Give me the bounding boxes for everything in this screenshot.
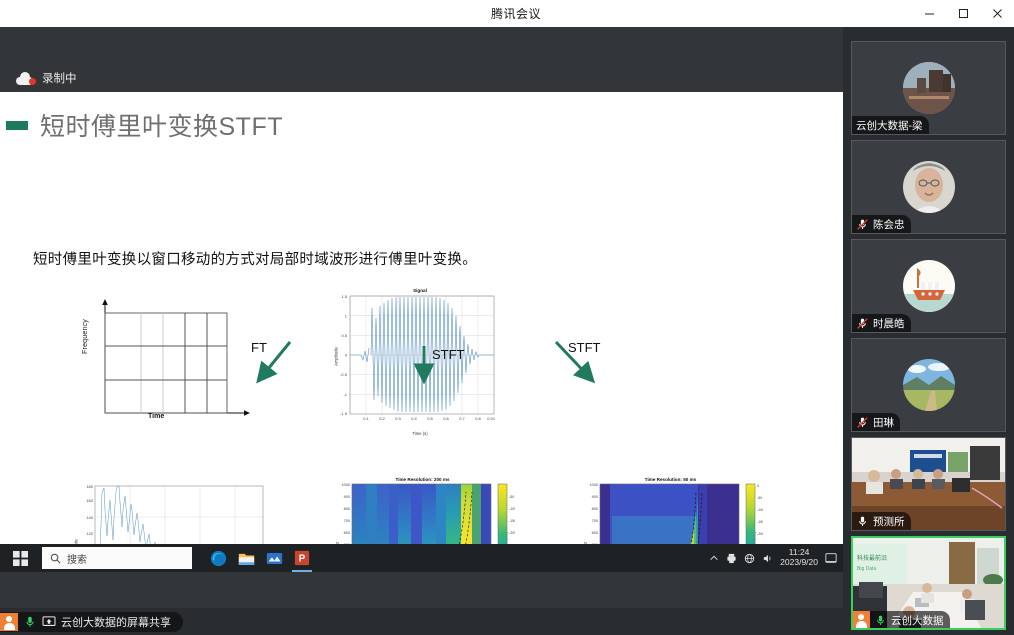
svg-text:0: 0 — [757, 484, 759, 488]
participant-name: 云创大数据 — [891, 613, 944, 628]
svg-text:0.3: 0.3 — [395, 416, 401, 421]
participant-name: 云创大数据-梁 — [856, 118, 923, 133]
svg-text:120: 120 — [86, 531, 93, 536]
avatar-badge-icon — [0, 613, 18, 631]
svg-text:0: 0 — [345, 353, 348, 358]
cloud-recording-icon — [16, 72, 36, 85]
minimize-button[interactable] — [912, 0, 946, 27]
svg-text:-50: -50 — [757, 496, 762, 500]
avatar — [903, 260, 955, 312]
participant-tile[interactable]: 云创大数据-梁 — [851, 41, 1006, 135]
ft-plot-svg: 02040 6080100 120140160 180200 180160140… — [68, 480, 273, 544]
slide-title-row: 短时傅里叶变换STFT — [0, 104, 843, 146]
slide-subtitle: 短时傅里叶变换以窗口移动的方式对局部时域波形进行傅里叶变换。 — [33, 248, 477, 269]
shared-slide: 短时傅里叶变换STFT 短时傅里叶变换以窗口移动的方式对局部时域波形进行傅里叶变… — [0, 92, 843, 544]
svg-text:-1.5: -1.5 — [340, 411, 348, 416]
taskbar-app-blue[interactable] — [260, 544, 288, 572]
slide-title: 短时傅里叶变换STFT — [40, 107, 283, 143]
time-frequency-grid-svg — [86, 295, 256, 430]
microphone-active-icon — [874, 614, 887, 627]
windows-start-button[interactable] — [0, 544, 40, 572]
svg-text:-150: -150 — [757, 520, 763, 524]
file-explorer-icon — [238, 551, 255, 566]
system-tray[interactable]: 11:24 2023/9/20 — [709, 548, 843, 568]
participant-name-bar: 田琳 — [852, 413, 900, 431]
avatar — [903, 161, 955, 213]
printer-icon[interactable] — [726, 553, 737, 564]
microphone-icon — [856, 515, 869, 528]
chevron-up-icon[interactable] — [709, 553, 719, 563]
svg-text:600: 600 — [592, 531, 598, 535]
microphone-muted-icon — [856, 218, 869, 231]
screen-share-bar: 云创大数据的屏幕共享 — [0, 608, 843, 635]
maximize-button[interactable] — [946, 0, 980, 27]
spectrogram-200ms-figure: Time Resolution: 200 ms Hz Time (s) Powe… — [330, 476, 515, 544]
participant-name: 陈会忠 — [873, 217, 905, 232]
svg-text:-100: -100 — [509, 507, 515, 511]
ft-spectrum-figure: Amplitude Frequency (Hz) 02040 6080100 1… — [68, 480, 273, 544]
svg-text:600: 600 — [344, 531, 350, 535]
svg-text:-150: -150 — [509, 519, 515, 523]
participant-name: 预测所 — [873, 514, 905, 529]
search-icon — [50, 553, 61, 564]
window-controls — [912, 0, 1014, 27]
participant-tile[interactable]: 预测所 — [851, 437, 1006, 531]
taskbar-clock[interactable]: 11:24 2023/9/20 — [780, 548, 818, 568]
participant-name-bar: 预测所 — [852, 512, 911, 530]
edge-icon — [210, 550, 227, 567]
taskbar-search-box[interactable]: 搜索 — [42, 547, 192, 569]
signal-figure: Signal Amplitude Time (s) — [325, 288, 515, 436]
notification-icon[interactable] — [825, 552, 837, 564]
spectrogram-200ms-svg: -50-100-150 -200-250-300 -350-400-450 10… — [330, 476, 515, 544]
minimize-icon — [924, 8, 935, 19]
time-frequency-grid-figure: Frequency Time — [86, 295, 256, 430]
window-title-bar: 腾讯会议 — [0, 0, 1014, 27]
participant-name-bar: 云创大数据-梁 — [852, 116, 929, 134]
svg-text:1: 1 — [493, 416, 496, 421]
microphone-muted-icon — [856, 317, 869, 330]
participant-name: 时晨皓 — [873, 316, 905, 331]
avatar — [903, 62, 955, 114]
clock-date: 2023/9/20 — [780, 558, 818, 568]
svg-text:0.1: 0.1 — [363, 416, 369, 421]
participant-name-bar: 时晨皓 — [852, 314, 911, 332]
svg-text:160: 160 — [86, 498, 93, 503]
participant-tile[interactable]: 田琳 — [851, 338, 1006, 432]
svg-text:-100: -100 — [757, 508, 763, 512]
microphone-icon[interactable] — [23, 615, 37, 629]
spectrogram-50ms-svg: 0-50-100 -150-200-250 -300-350-400 -450 … — [578, 476, 763, 544]
svg-text:1.5: 1.5 — [341, 294, 347, 299]
svg-text:-50: -50 — [509, 495, 514, 499]
svg-text:0.4: 0.4 — [411, 416, 417, 421]
svg-text:700: 700 — [592, 519, 598, 523]
microphone-muted-icon — [856, 416, 869, 429]
grid-ylabel: Frequency — [82, 319, 89, 354]
taskbar-app-powerpoint[interactable]: P — [288, 544, 316, 572]
title-accent-left — [6, 121, 28, 130]
svg-text:P: P — [299, 554, 306, 565]
svg-text:180: 180 — [86, 484, 93, 489]
maximize-icon — [958, 8, 969, 19]
svg-text:-1: -1 — [343, 392, 347, 397]
recording-label: 录制中 — [42, 70, 77, 86]
svg-text:140: 140 — [86, 515, 93, 520]
svg-text:1: 1 — [345, 314, 348, 319]
screen-share-label: 云创大数据的屏幕共享 — [61, 614, 171, 630]
svg-text:0.5: 0.5 — [427, 416, 433, 421]
powerpoint-icon: P — [294, 550, 310, 566]
landscape-photo-avatar-icon — [903, 359, 955, 411]
close-icon — [992, 8, 1003, 19]
signal-plot-svg: 0.10.20.3 0.40.50.6 0.70.80.9 1 1.510.5 … — [325, 288, 515, 436]
participant-name-bar: 云创大数据 — [852, 611, 950, 629]
svg-text:0.5: 0.5 — [341, 333, 347, 338]
svg-text:-0.5: -0.5 — [340, 372, 348, 377]
volume-icon[interactable] — [762, 553, 773, 564]
arrow-label-stft-1: STFT — [432, 347, 465, 362]
svg-text:0.7: 0.7 — [459, 416, 465, 421]
participant-rail[interactable]: 云创大数据-梁 — [843, 27, 1014, 635]
tencent-meeting-window: 腾讯会议 录制中 — [0, 0, 1014, 635]
spectrogram-50ms-figure: Time Resolution: 50 ms Hz Time (s) Power… — [578, 476, 763, 544]
svg-text:800: 800 — [344, 507, 350, 511]
svg-text:1000: 1000 — [590, 483, 598, 487]
svg-text:0.6: 0.6 — [443, 416, 449, 421]
grid-xlabel: Time — [148, 413, 164, 420]
recording-indicator: 录制中 — [16, 70, 77, 86]
boat-illustration-avatar-icon — [903, 260, 955, 312]
person-photo-avatar-icon — [903, 161, 955, 213]
city-photo-avatar-icon — [903, 62, 955, 114]
participant-name-bar: 陈会忠 — [852, 215, 911, 233]
windows-taskbar[interactable]: 搜索 P — [0, 544, 843, 572]
svg-text:700: 700 — [344, 519, 350, 523]
svg-text:1000: 1000 — [342, 483, 350, 487]
avatar-badge-icon — [852, 611, 870, 629]
taskbar-app-file-explorer[interactable] — [232, 544, 260, 572]
network-icon[interactable] — [744, 553, 755, 564]
svg-text:900: 900 — [592, 495, 598, 499]
participant-tile[interactable]: 时晨皓 — [851, 239, 1006, 333]
windows-start-icon — [13, 551, 28, 566]
svg-text:900: 900 — [344, 495, 350, 499]
svg-text:科技最前沿: 科技最前沿 — [857, 554, 887, 562]
blue-app-icon — [266, 551, 283, 566]
avatar — [903, 359, 955, 411]
svg-text:0.2: 0.2 — [379, 416, 385, 421]
search-placeholder: 搜索 — [67, 551, 87, 566]
svg-text:800: 800 — [592, 507, 598, 511]
window-title: 腾讯会议 — [120, 5, 912, 22]
participant-tile-active[interactable]: 科技最前沿 Big Data — [851, 536, 1006, 630]
svg-text:0.8: 0.8 — [475, 416, 481, 421]
close-button[interactable] — [980, 0, 1014, 27]
svg-text:-200: -200 — [509, 531, 515, 535]
taskbar-app-edge[interactable] — [204, 544, 232, 572]
participant-name: 田琳 — [873, 415, 894, 430]
svg-text:Big Data: Big Data — [857, 566, 876, 572]
screen-share-chip[interactable]: 云创大数据的屏幕共享 — [0, 612, 183, 632]
participant-tile[interactable]: 陈会忠 — [851, 140, 1006, 234]
arrow-label-stft-2: STFT — [568, 340, 601, 355]
screen-share-icon[interactable] — [42, 616, 56, 628]
arrow-label-ft: FT — [251, 340, 267, 355]
svg-text:-200: -200 — [757, 532, 763, 536]
